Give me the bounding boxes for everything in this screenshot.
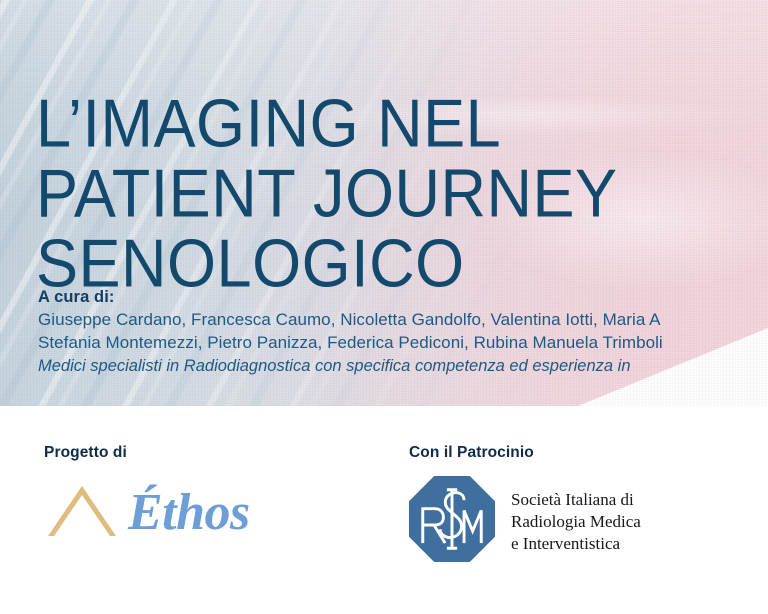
- project-heading: Progetto di: [44, 444, 250, 462]
- hero-banner: L’IMAGING NEL PATIENT JOURNEY SENOLOGICO…: [0, 0, 768, 406]
- ethos-wordmark: Éthos: [128, 487, 250, 539]
- title-line-2: PATIENT JOURNEY: [36, 156, 768, 232]
- credits-block: A cura di: Giuseppe Cardano, Francesca C…: [38, 286, 768, 378]
- project-column: Progetto di Éthos: [44, 406, 250, 543]
- sirm-octagon-icon: [409, 476, 495, 567]
- page-title: L’IMAGING NEL PATIENT JOURNEY SENOLOGICO: [36, 86, 768, 296]
- ethos-chevron-icon: [44, 482, 120, 543]
- sirm-logo: Società Italiana di Radiologia Medica e …: [409, 476, 641, 567]
- patronage-column: Con il Patrocinio: [409, 406, 641, 567]
- ethos-logo: Éthos: [44, 482, 250, 543]
- patronage-heading: Con il Patrocinio: [409, 444, 641, 462]
- sirm-name-line-2: Radiologia Medica: [511, 511, 641, 533]
- credits-label: A cura di:: [38, 286, 768, 308]
- hero-content: L’IMAGING NEL PATIENT JOURNEY SENOLOGICO…: [0, 0, 768, 406]
- sirm-name-line-1: Società Italiana di: [511, 489, 641, 511]
- footer-logos-bar: Progetto di Éthos Con il Patrocinio: [0, 406, 768, 614]
- credits-authors-line-2: Stefania Montemezzi, Pietro Panizza, Fed…: [38, 331, 768, 354]
- sirm-name-line-3: e Interventistica: [511, 533, 641, 555]
- sirm-name: Società Italiana di Radiologia Medica e …: [511, 489, 641, 555]
- credits-authors-line-1: Giuseppe Cardano, Francesca Caumo, Nicol…: [38, 308, 768, 331]
- title-line-1: L’IMAGING NEL: [36, 86, 768, 162]
- credits-qualification-note: Medici specialisti in Radiodiagnostica c…: [38, 355, 768, 378]
